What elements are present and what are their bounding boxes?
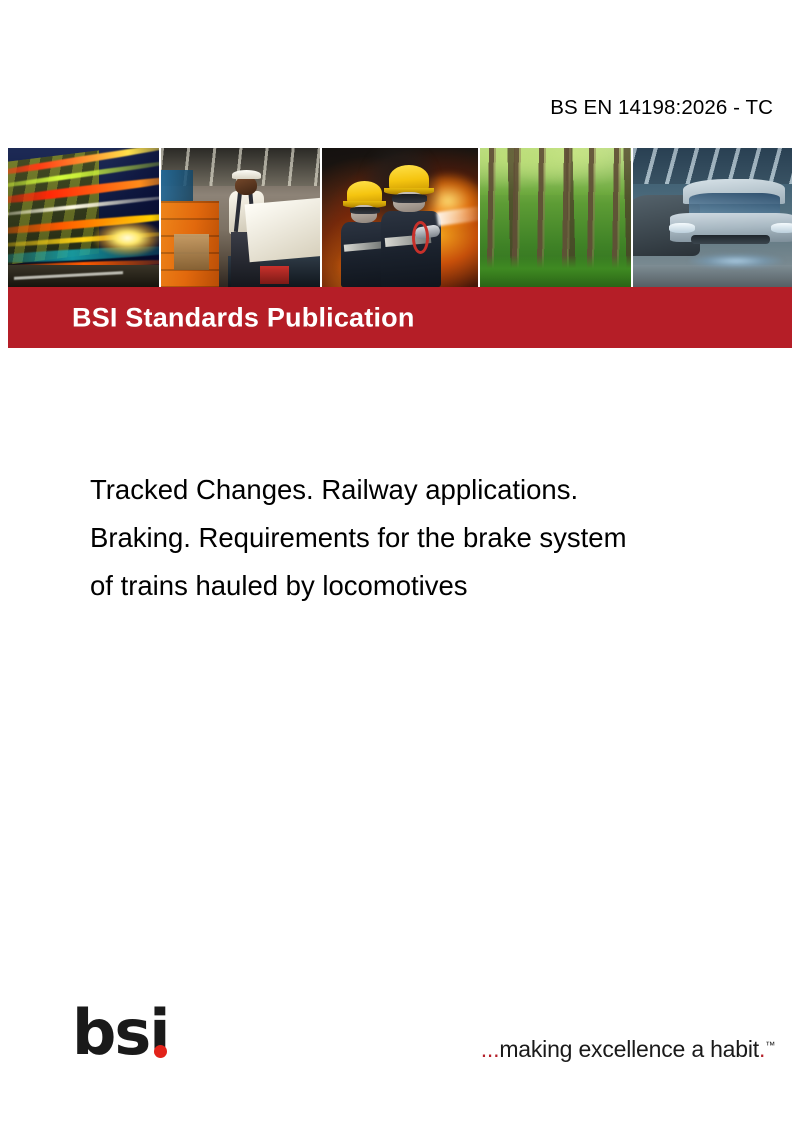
headlight-glow [93,220,160,256]
trolley [174,234,209,270]
page-title: Tracked Changes. Railway applications. B… [90,466,750,610]
bsi-logo-dot-icon [154,1045,167,1058]
bsi-logo: bsi [72,1002,192,1064]
title-line-3: of trains hauled by locomotives [90,562,750,610]
tagline-ellipsis: ... [481,1036,500,1062]
publication-banner: BSI Standards Publication [8,287,792,348]
car-grille [691,235,769,244]
train-light-trails-photo [8,148,159,287]
title-line-2: Braking. Requirements for the brake syst… [90,514,750,562]
underbody-lighting [689,254,783,268]
title-line-1: Tracked Changes. Railway applications. [90,466,750,514]
firefighters-photo [322,148,477,287]
bsi-logo-text: bsi [72,1002,192,1064]
safety-goggles [350,207,380,214]
car-headlamp [771,223,792,232]
document-cover-page: BS EN 14198:2026 - TC [0,0,800,1132]
forest-floor [480,256,631,287]
document-reference: BS EN 14198:2026 - TC [550,96,773,120]
cover-image-strip [8,148,792,287]
firefighter-right [380,165,442,287]
warehouse-worker-photo [161,148,320,287]
car-headlamp [669,223,695,232]
packing-sheet [245,198,321,263]
safety-goggles [392,194,427,203]
tagline-text: making excellence a habit [499,1036,759,1062]
car-front [668,179,792,265]
automotive-assembly-photo [633,148,792,287]
worker-cap [232,170,262,180]
publication-banner-label: BSI Standards Publication [72,302,415,333]
trademark-icon: ™ [765,1040,775,1051]
bsi-tagline: ...making excellence a habit.™ [481,1036,775,1063]
forest-photo [480,148,631,287]
firefighter-jacket [381,211,441,287]
valve-wheel [412,221,429,254]
